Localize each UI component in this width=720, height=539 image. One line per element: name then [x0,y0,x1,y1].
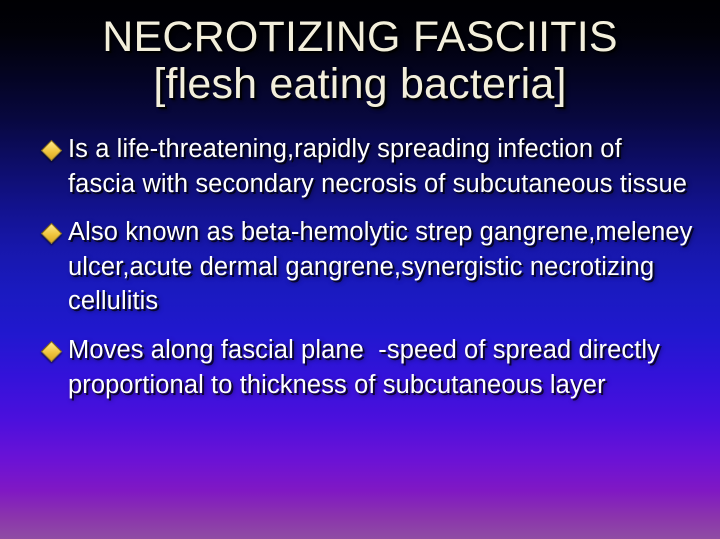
presentation-slide: NECROTIZING FASCIITIS [flesh eating bact… [0,0,720,539]
bullet-item: Is a life-threatening,rapidly spreading … [40,132,700,201]
slide-body-bullet-list: Is a life-threatening,rapidly spreading … [40,132,700,416]
diamond-bullet-icon [41,140,62,161]
diamond-bullet-icon [41,223,62,244]
bullet-item: Moves along fascial plane -speed of spre… [40,333,700,402]
slide-title-line-2: [flesh eating bacteria] [0,61,720,108]
slide-title-line-1: NECROTIZING FASCIITIS [0,14,720,61]
diamond-bullet-icon [41,341,62,362]
slide-title: NECROTIZING FASCIITIS [flesh eating bact… [0,14,720,108]
bullet-text: Moves along fascial plane -speed of spre… [68,336,667,399]
bullet-text: Is a life-threatening,rapidly spreading … [68,135,687,198]
bullet-item: Also known as beta-hemolytic strep gangr… [40,215,700,319]
bullet-text: Also known as beta-hemolytic strep gangr… [68,218,700,315]
